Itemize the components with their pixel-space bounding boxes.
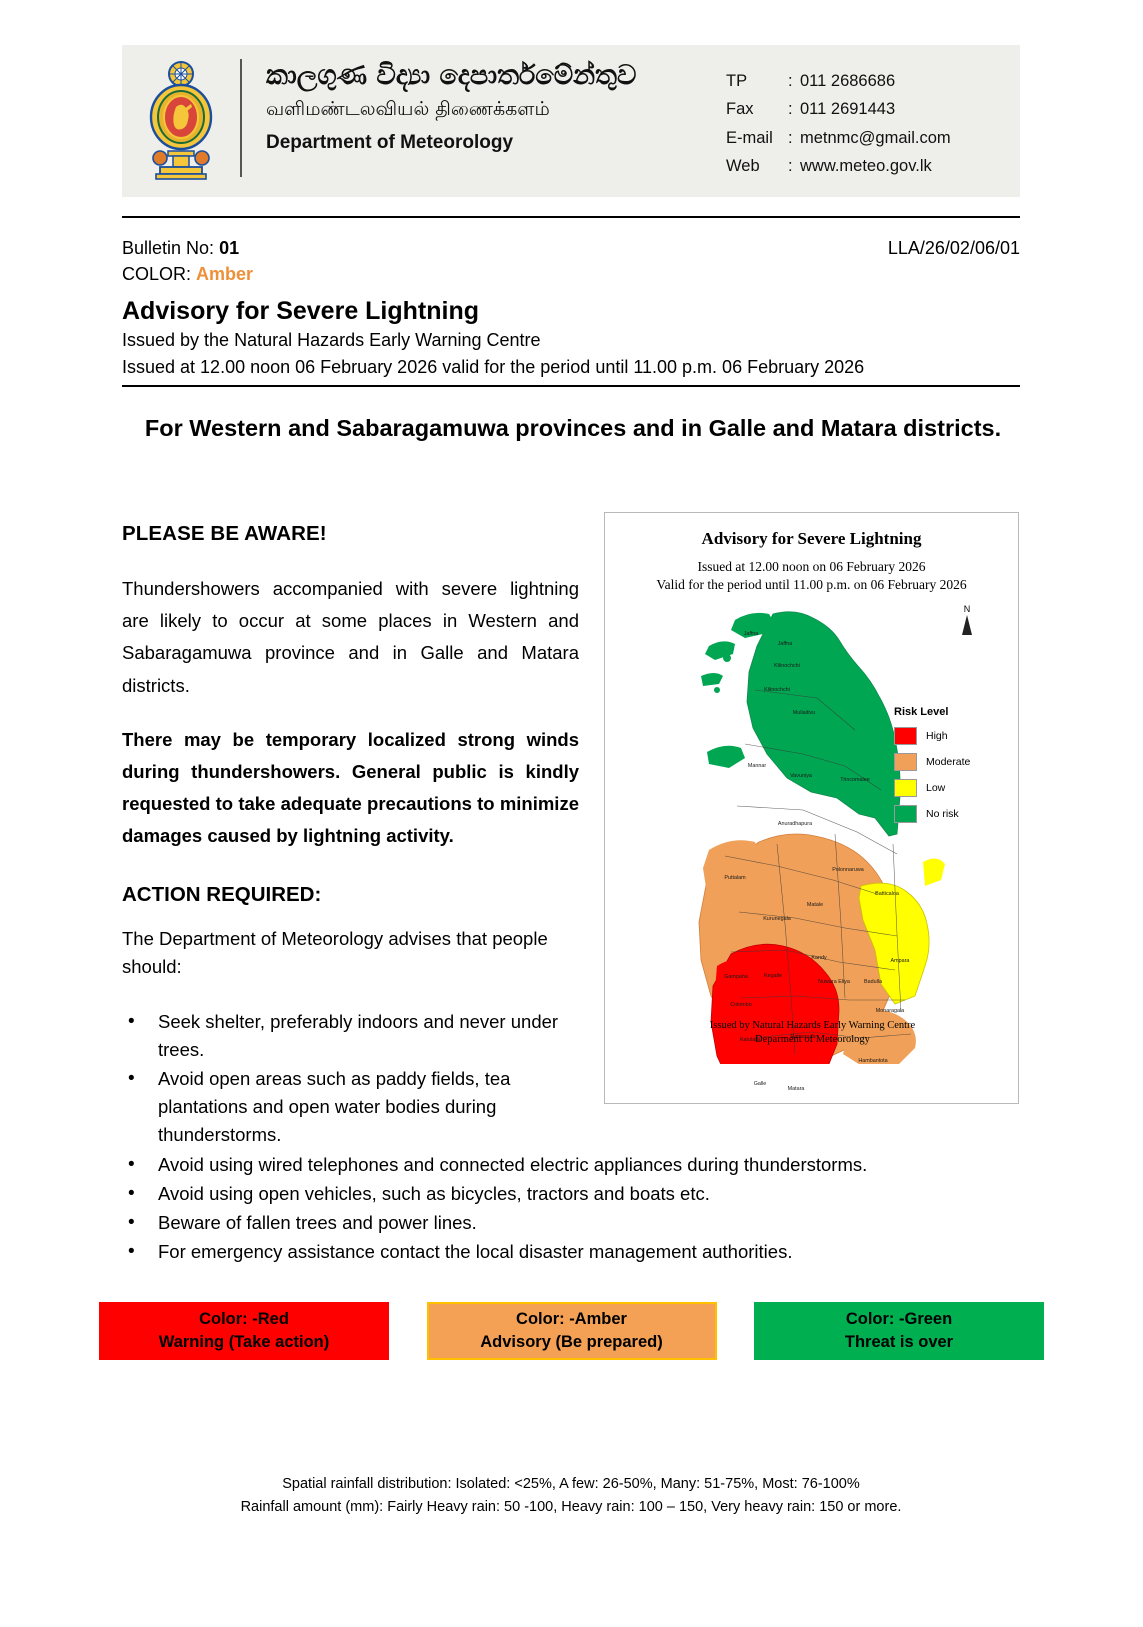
- bullet-dot-icon: •: [128, 1238, 135, 1267]
- dept-name-english: Department of Meteorology: [266, 132, 726, 154]
- bulletin-number-row: Bulletin No: 01 LLA/26/02/06/01: [122, 236, 1020, 262]
- map-footer-line-2: Deparment of Meteorology: [605, 1033, 1019, 1047]
- action-required-heading: ACTION REQUIRED:: [122, 883, 579, 907]
- contact-sep-web: :: [788, 152, 800, 180]
- bulletin-meta: Bulletin No: 01 LLA/26/02/06/01 COLOR: A…: [122, 236, 1020, 380]
- contact-row-web: Web : www.meteo.gov.lk: [726, 152, 951, 180]
- contact-label-fax: Fax: [726, 95, 788, 123]
- contact-value-email[interactable]: metnmc@gmail.com: [800, 124, 951, 152]
- map-canvas: N: [605, 594, 1019, 1064]
- color-code-green-desc: Threat is over: [845, 1331, 953, 1354]
- map-title: Advisory for Severe Lightning: [605, 529, 1018, 549]
- legend-label-moderate: Moderate: [926, 756, 970, 768]
- district-label: Matara: [788, 1086, 805, 1092]
- bulletin-color-row: COLOR: Amber: [122, 262, 1020, 288]
- contact-label-web: Web: [726, 152, 788, 180]
- color-code-amber-desc: Advisory (Be prepared): [480, 1331, 662, 1354]
- advisory-paragraph-1: Thundershowers accompanied with severe l…: [122, 573, 579, 702]
- list-item: • Avoid using wired telephones and conne…: [122, 1151, 1020, 1179]
- letterhead: කාලගුණ විද්‍යා දෙපාර්තමේන්තුව வளிமண்டலவி…: [122, 45, 1020, 197]
- bulletin-number: Bulletin No: 01: [122, 236, 239, 262]
- contact-row-email: E-mail : metnmc@gmail.com: [726, 124, 951, 152]
- national-emblem-icon: [122, 45, 240, 197]
- color-code-amber: Color: -Amber Advisory (Be prepared): [427, 1302, 717, 1360]
- rule-top: [122, 216, 1020, 218]
- bulletin-number-value: 01: [219, 238, 239, 258]
- dept-name-sinhala: කාලගුණ විද්‍යා දෙපාර්තමේන්තුව: [266, 59, 726, 93]
- color-value: Amber: [196, 264, 253, 284]
- contact-block: TP : 011 2686686 Fax : 011 2691443 E-mai…: [726, 45, 951, 181]
- advises-intro: The Department of Meteorology advises th…: [122, 925, 579, 981]
- contact-sep-email: :: [788, 124, 800, 152]
- map-valid-line: Valid for the period until 11.00 p.m. on…: [605, 576, 1018, 594]
- legend-item-moderate: Moderate: [894, 753, 1006, 771]
- color-code-legend: Color: -Red Warning (Take action) Color:…: [99, 1302, 1044, 1360]
- map-footer: Issued by Natural Hazards Early Warning …: [605, 1019, 1019, 1047]
- map-legend: Risk Level High Moderate Low No risk: [894, 706, 1006, 831]
- color-code-red-desc: Warning (Take action): [159, 1331, 330, 1354]
- sri-lanka-crest-icon: [144, 59, 218, 183]
- bullet-text: Beware of fallen trees and power lines.: [158, 1212, 477, 1233]
- advisory-body: PLEASE BE AWARE! Thundershowers accompan…: [122, 522, 579, 981]
- color-code-green: Color: -Green Threat is over: [754, 1302, 1044, 1360]
- list-item: • For emergency assistance contact the l…: [122, 1238, 1020, 1266]
- legend-swatch-moderate: [894, 753, 917, 771]
- subject-headline: For Western and Sabaragamuwa provinces a…: [140, 412, 1006, 445]
- contact-label-email: E-mail: [726, 124, 788, 152]
- footer-line-2: Rainfall amount (mm): Fairly Heavy rain:…: [122, 1496, 1020, 1519]
- legend-swatch-no-risk: [894, 805, 917, 823]
- legend-item-low: Low: [894, 779, 1006, 797]
- color-code-green-title: Color: -Green: [846, 1308, 952, 1331]
- color-code-amber-title: Color: -Amber: [516, 1308, 627, 1331]
- bullet-text: Avoid using open vehicles, such as bicyc…: [158, 1183, 710, 1204]
- list-item: • Beware of fallen trees and power lines…: [122, 1209, 1020, 1237]
- bulletin-number-label: Bulletin No:: [122, 238, 214, 258]
- color-code-red-title: Color: -Red: [199, 1308, 289, 1331]
- document-footer: Spatial rainfall distribution: Isolated:…: [122, 1473, 1020, 1520]
- bullet-dot-icon: •: [128, 1180, 135, 1209]
- contact-sep-tp: :: [788, 67, 800, 95]
- department-names: කාලගුණ විද්‍යා දෙපාර්තමේන්තුව வளிமண்டலவி…: [242, 45, 726, 154]
- bullet-text: For emergency assistance contact the loc…: [158, 1241, 792, 1262]
- contact-sep-fax: :: [788, 95, 800, 123]
- legend-label-high: High: [926, 730, 948, 742]
- bullet-text: Avoid using wired telephones and connect…: [158, 1154, 867, 1175]
- legend-label-low: Low: [926, 782, 945, 794]
- advisory-paragraph-2: There may be temporary localized strong …: [122, 724, 579, 853]
- bullet-dot-icon: •: [128, 1065, 135, 1094]
- please-be-aware-heading: PLEASE BE AWARE!: [122, 522, 579, 546]
- color-label: COLOR:: [122, 264, 191, 284]
- legend-title: Risk Level: [894, 706, 1006, 718]
- list-item: • Avoid using open vehicles, such as bic…: [122, 1180, 1020, 1208]
- contact-label-tp: TP: [726, 67, 788, 95]
- legend-item-no-risk: No risk: [894, 805, 1006, 823]
- color-code-red: Color: -Red Warning (Take action): [99, 1302, 389, 1360]
- dept-name-tamil: வளிமண்டலவியல் திணைக்களம்: [266, 95, 726, 124]
- advisory-document: කාලගුණ විද්‍යා දෙපාර්තමේන්තුව வளிமண்டலவி…: [0, 0, 1143, 1627]
- rule-middle: [122, 385, 1020, 387]
- contact-value-web[interactable]: www.meteo.gov.lk: [800, 152, 932, 180]
- legend-swatch-high: [894, 727, 917, 745]
- bullet-dot-icon: •: [128, 1209, 135, 1238]
- bullet-dot-icon: •: [128, 1008, 135, 1037]
- footer-line-1: Spatial rainfall distribution: Isolated:…: [122, 1473, 1020, 1496]
- risk-map-panel: Advisory for Severe Lightning Issued at …: [604, 512, 1019, 1104]
- list-item: • Avoid open areas such as paddy fields,…: [122, 1065, 598, 1149]
- issued-by-line: Issued by the Natural Hazards Early Warn…: [122, 327, 1020, 353]
- legend-item-high: High: [894, 727, 1006, 745]
- contact-value-tp: 011 2686686: [800, 67, 895, 95]
- district-label: Galle: [754, 1081, 767, 1087]
- validity-line: Issued at 12.00 noon 06 February 2026 va…: [122, 354, 1020, 380]
- contact-value-fax: 011 2691443: [800, 95, 895, 123]
- bullet-text: Avoid open areas such as paddy fields, t…: [158, 1068, 510, 1145]
- advisory-title: Advisory for Severe Lightning: [122, 296, 1020, 327]
- legend-label-no-risk: No risk: [926, 808, 959, 820]
- map-footer-line-1: Issued by Natural Hazards Early Warning …: [605, 1019, 1019, 1033]
- contact-row-fax: Fax : 011 2691443: [726, 95, 951, 123]
- map-region-no-risk: [701, 611, 900, 835]
- bulletin-reference: LLA/26/02/06/01: [888, 236, 1020, 262]
- contact-row-tp: TP : 011 2686686: [726, 67, 951, 95]
- bullet-text: Seek shelter, preferably indoors and nev…: [158, 1011, 558, 1060]
- map-issued-line: Issued at 12.00 noon on 06 February 2026: [605, 558, 1018, 576]
- list-item: • Seek shelter, preferably indoors and n…: [122, 1008, 598, 1064]
- bullet-dot-icon: •: [128, 1151, 135, 1180]
- legend-swatch-low: [894, 779, 917, 797]
